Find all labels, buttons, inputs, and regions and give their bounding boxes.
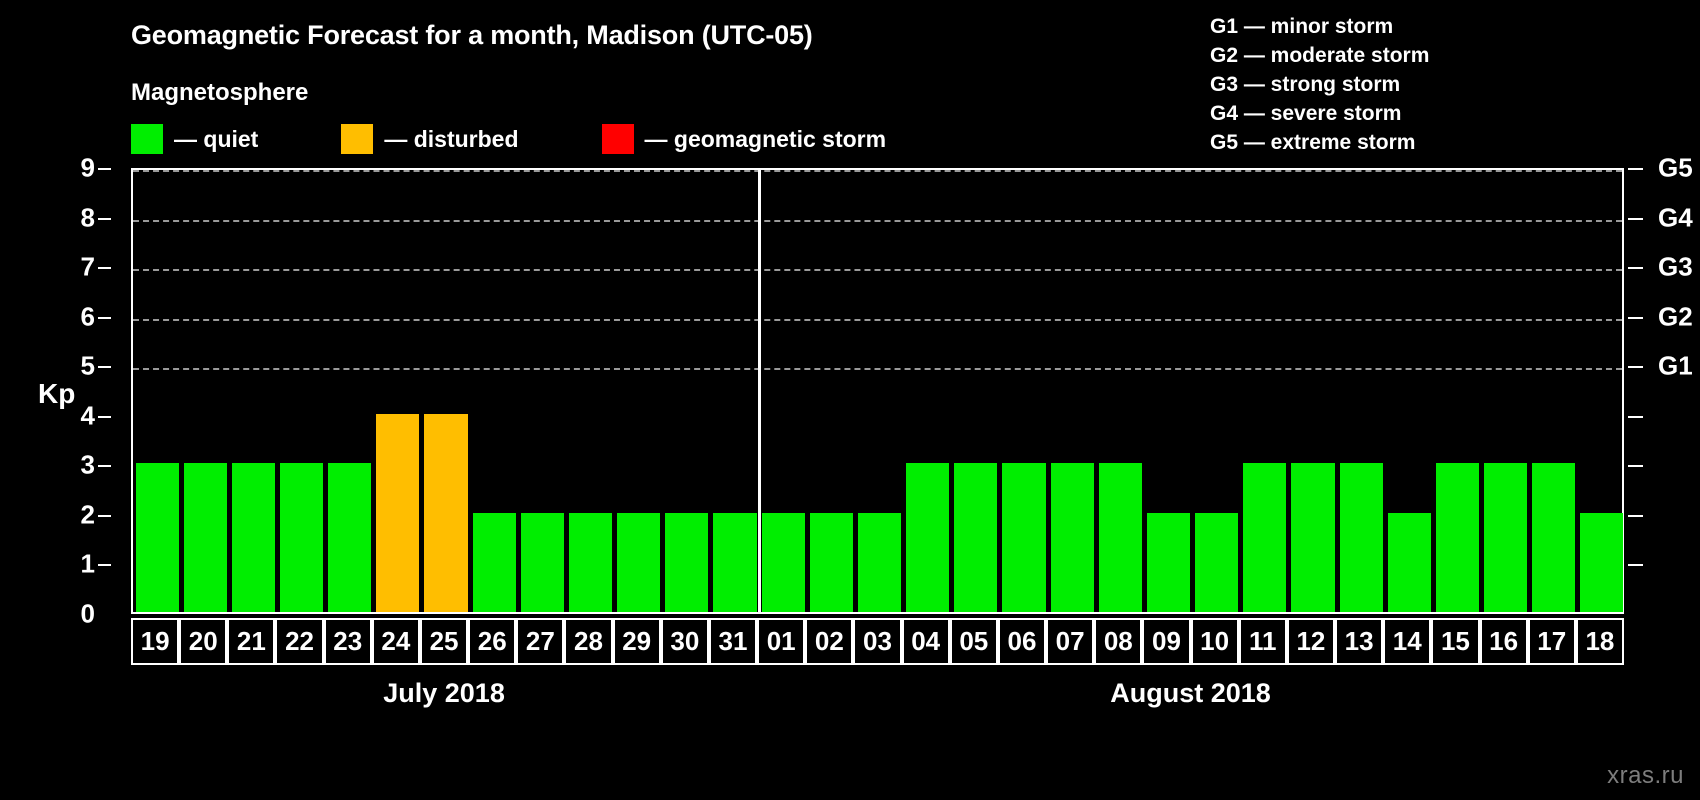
bar-20[interactable] bbox=[184, 463, 227, 612]
bar-07[interactable] bbox=[1051, 463, 1094, 612]
bar-31[interactable] bbox=[713, 513, 756, 612]
watermark: xras.ru bbox=[1607, 762, 1684, 790]
g-scale-row-5: G5 — extreme storm bbox=[1210, 128, 1429, 157]
bar-05[interactable] bbox=[954, 463, 997, 612]
date-cell-25[interactable]: 25 bbox=[420, 618, 468, 665]
y-tick-label-9: 9 bbox=[81, 153, 95, 184]
bar-12[interactable] bbox=[1291, 463, 1334, 612]
date-cell-28[interactable]: 28 bbox=[564, 618, 612, 665]
bar-23[interactable] bbox=[328, 463, 371, 612]
y-tick-label-8: 8 bbox=[81, 202, 95, 233]
y-tick-label-3: 3 bbox=[81, 450, 95, 481]
y-tick-label-2: 2 bbox=[81, 499, 95, 530]
date-cell-22[interactable]: 22 bbox=[275, 618, 323, 665]
bar-11[interactable] bbox=[1243, 463, 1286, 612]
g-axis-tick-minor-2 bbox=[1628, 515, 1643, 517]
date-cell-29[interactable]: 29 bbox=[613, 618, 661, 665]
date-cell-20[interactable]: 20 bbox=[179, 618, 227, 665]
g-axis-label-G5: G5 bbox=[1658, 153, 1693, 184]
date-cell-01[interactable]: 01 bbox=[757, 618, 805, 665]
date-cell-07[interactable]: 07 bbox=[1046, 618, 1094, 665]
bar-26[interactable] bbox=[473, 513, 516, 612]
bar-06[interactable] bbox=[1002, 463, 1045, 612]
date-cell-10[interactable]: 10 bbox=[1191, 618, 1239, 665]
g-axis-tick-minor-1 bbox=[1628, 564, 1643, 566]
bar-22[interactable] bbox=[280, 463, 323, 612]
date-cell-03[interactable]: 03 bbox=[853, 618, 901, 665]
legend-item-disturbed: — disturbed bbox=[341, 124, 518, 154]
date-cell-02[interactable]: 02 bbox=[805, 618, 853, 665]
bar-27[interactable] bbox=[521, 513, 564, 612]
y-tick-label-1: 1 bbox=[81, 549, 95, 580]
date-axis: 1920212223242526272829303101020304050607… bbox=[131, 618, 1624, 665]
g-axis-label-G1: G1 bbox=[1658, 351, 1693, 382]
date-cell-13[interactable]: 13 bbox=[1335, 618, 1383, 665]
g-scale-row-1: G1 — minor storm bbox=[1210, 12, 1429, 41]
legend-swatch-quiet-icon bbox=[131, 124, 163, 154]
bar-24[interactable] bbox=[376, 414, 419, 612]
g-scale-row-2: G2 — moderate storm bbox=[1210, 41, 1429, 70]
date-cell-15[interactable]: 15 bbox=[1431, 618, 1479, 665]
legend-item-quiet: — quiet bbox=[131, 124, 258, 154]
bar-02[interactable] bbox=[810, 513, 853, 612]
y-tick-mark-9 bbox=[98, 168, 111, 170]
legend-label-storm: — geomagnetic storm bbox=[645, 126, 887, 153]
g-axis-tick-G5 bbox=[1628, 168, 1643, 170]
y-tick-mark-5 bbox=[98, 366, 111, 368]
bars-layer bbox=[133, 170, 1622, 612]
g-axis-tick-G3 bbox=[1628, 267, 1643, 269]
y-tick-mark-7 bbox=[98, 267, 111, 269]
month-caption-july: July 2018 bbox=[383, 678, 505, 709]
g-axis-tick-minor-4 bbox=[1628, 416, 1643, 418]
bar-21[interactable] bbox=[232, 463, 275, 612]
g-axis-tick-minor-3 bbox=[1628, 465, 1643, 467]
bar-29[interactable] bbox=[617, 513, 660, 612]
g-axis-label-G3: G3 bbox=[1658, 252, 1693, 283]
date-cell-16[interactable]: 16 bbox=[1480, 618, 1528, 665]
g-axis-tick-G2 bbox=[1628, 317, 1643, 319]
date-cell-17[interactable]: 17 bbox=[1528, 618, 1576, 665]
date-cell-23[interactable]: 23 bbox=[324, 618, 372, 665]
date-cell-26[interactable]: 26 bbox=[468, 618, 516, 665]
plot-area bbox=[131, 168, 1624, 614]
bar-16[interactable] bbox=[1484, 463, 1527, 612]
bar-01[interactable] bbox=[762, 513, 805, 612]
bar-25[interactable] bbox=[424, 414, 467, 612]
plot-inner bbox=[133, 170, 1622, 612]
y-tick-mark-2 bbox=[98, 515, 111, 517]
y-tick-mark-3 bbox=[98, 465, 111, 467]
bar-19[interactable] bbox=[136, 463, 179, 612]
g-axis-label-G2: G2 bbox=[1658, 301, 1693, 332]
legend-item-storm: — geomagnetic storm bbox=[602, 124, 887, 154]
legend-label-quiet: — quiet bbox=[174, 126, 258, 153]
date-cell-14[interactable]: 14 bbox=[1383, 618, 1431, 665]
date-cell-09[interactable]: 09 bbox=[1142, 618, 1190, 665]
date-cell-04[interactable]: 04 bbox=[902, 618, 950, 665]
date-cell-19[interactable]: 19 bbox=[131, 618, 179, 665]
bar-30[interactable] bbox=[665, 513, 708, 612]
bar-28[interactable] bbox=[569, 513, 612, 612]
month-caption-august: August 2018 bbox=[1110, 678, 1271, 709]
g-axis-tick-G1 bbox=[1628, 366, 1643, 368]
y-axis-title: Kp bbox=[38, 378, 75, 410]
date-cell-18[interactable]: 18 bbox=[1576, 618, 1624, 665]
y-tick-mark-6 bbox=[98, 317, 111, 319]
y-tick-label-0: 0 bbox=[81, 599, 95, 630]
g-axis-tick-G4 bbox=[1628, 218, 1643, 220]
g-scale-row-3: G3 — strong storm bbox=[1210, 70, 1429, 99]
bar-03[interactable] bbox=[858, 513, 901, 612]
date-cell-05[interactable]: 05 bbox=[950, 618, 998, 665]
date-cell-30[interactable]: 30 bbox=[661, 618, 709, 665]
page-title: Geomagnetic Forecast for a month, Madiso… bbox=[131, 20, 813, 51]
bar-18[interactable] bbox=[1580, 513, 1623, 612]
bar-04[interactable] bbox=[906, 463, 949, 612]
color-legend: — quiet — disturbed — geomagnetic storm bbox=[131, 123, 886, 155]
date-cell-11[interactable]: 11 bbox=[1239, 618, 1287, 665]
date-cell-08[interactable]: 08 bbox=[1094, 618, 1142, 665]
date-cell-12[interactable]: 12 bbox=[1287, 618, 1335, 665]
date-cell-06[interactable]: 06 bbox=[998, 618, 1046, 665]
legend-swatch-disturbed-icon bbox=[341, 124, 373, 154]
bar-09[interactable] bbox=[1147, 513, 1190, 612]
magnetosphere-label: Magnetosphere bbox=[131, 79, 308, 107]
date-cell-27[interactable]: 27 bbox=[516, 618, 564, 665]
bar-08[interactable] bbox=[1099, 463, 1142, 612]
date-cell-31[interactable]: 31 bbox=[709, 618, 757, 665]
legend-swatch-storm-icon bbox=[602, 124, 634, 154]
y-tick-label-7: 7 bbox=[81, 252, 95, 283]
y-tick-label-5: 5 bbox=[81, 351, 95, 382]
y-tick-label-4: 4 bbox=[81, 400, 95, 431]
bar-17[interactable] bbox=[1532, 463, 1575, 612]
bar-15[interactable] bbox=[1436, 463, 1479, 612]
y-tick-mark-8 bbox=[98, 218, 111, 220]
y-tick-mark-1 bbox=[98, 564, 111, 566]
y-tick-mark-4 bbox=[98, 416, 111, 418]
g-scale-legend: G1 — minor stormG2 — moderate stormG3 — … bbox=[1210, 12, 1429, 157]
legend-label-disturbed: — disturbed bbox=[384, 126, 518, 153]
bar-13[interactable] bbox=[1340, 463, 1383, 612]
bar-10[interactable] bbox=[1195, 513, 1238, 612]
y-tick-label-6: 6 bbox=[81, 301, 95, 332]
g-scale-row-4: G4 — severe storm bbox=[1210, 99, 1429, 128]
date-cell-24[interactable]: 24 bbox=[372, 618, 420, 665]
bar-14[interactable] bbox=[1388, 513, 1431, 612]
g-scale-axis: G1G2G3G4G5 bbox=[1624, 168, 1700, 614]
date-cell-21[interactable]: 21 bbox=[227, 618, 275, 665]
g-axis-label-G4: G4 bbox=[1658, 202, 1693, 233]
